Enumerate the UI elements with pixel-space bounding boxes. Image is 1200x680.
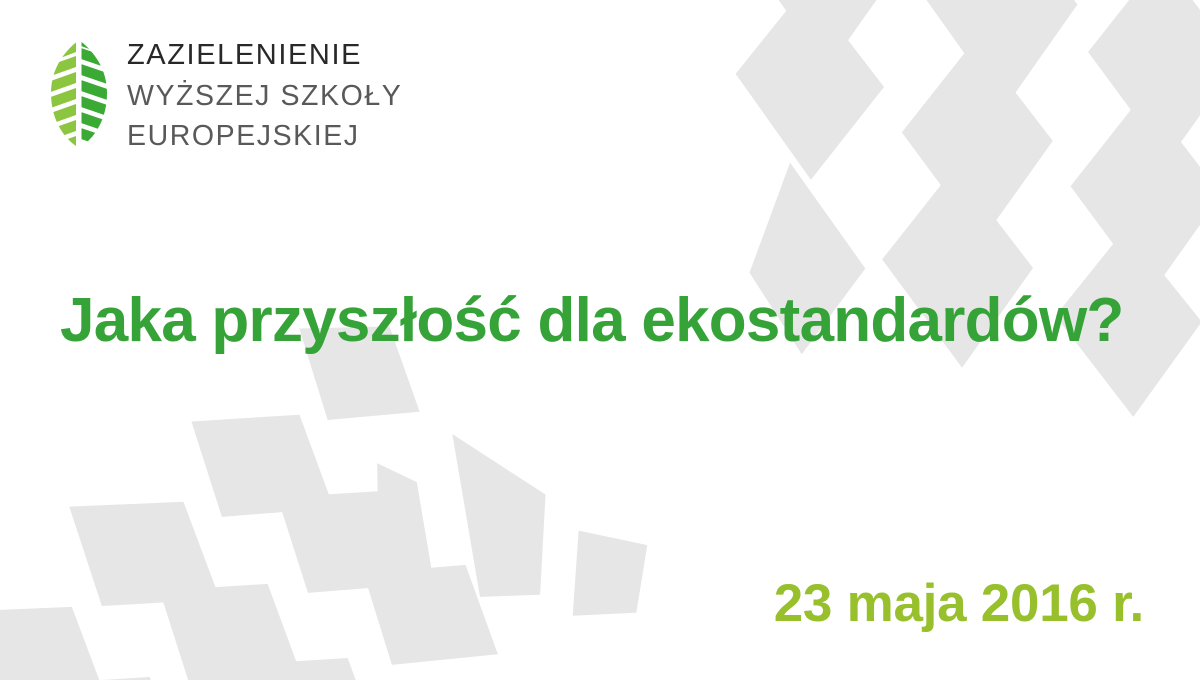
logo-wordmark-line-1: ZAZIELENIENIE	[127, 41, 402, 70]
logo-wordmark-line-2: WYŻSZEJ SZKOŁY	[127, 82, 402, 111]
event-date: 23 maja 2016 r.	[0, 576, 1144, 632]
leaf-logo-mark-icon	[48, 38, 110, 150]
event-title: Jaka przyszłość dla ekostandardów?	[60, 289, 1150, 353]
logo-wordmark: ZAZIELENIENIE WYŻSZEJ SZKOŁY EUROPEJSKIE…	[127, 38, 402, 150]
logo-lockup: ZAZIELENIENIE WYŻSZEJ SZKOŁY EUROPEJSKIE…	[48, 38, 402, 150]
logo-wordmark-line-3: EUROPEJSKIEJ	[127, 122, 402, 151]
event-banner: ZAZIELENIENIE WYŻSZEJ SZKOŁY EUROPEJSKIE…	[0, 0, 1200, 680]
